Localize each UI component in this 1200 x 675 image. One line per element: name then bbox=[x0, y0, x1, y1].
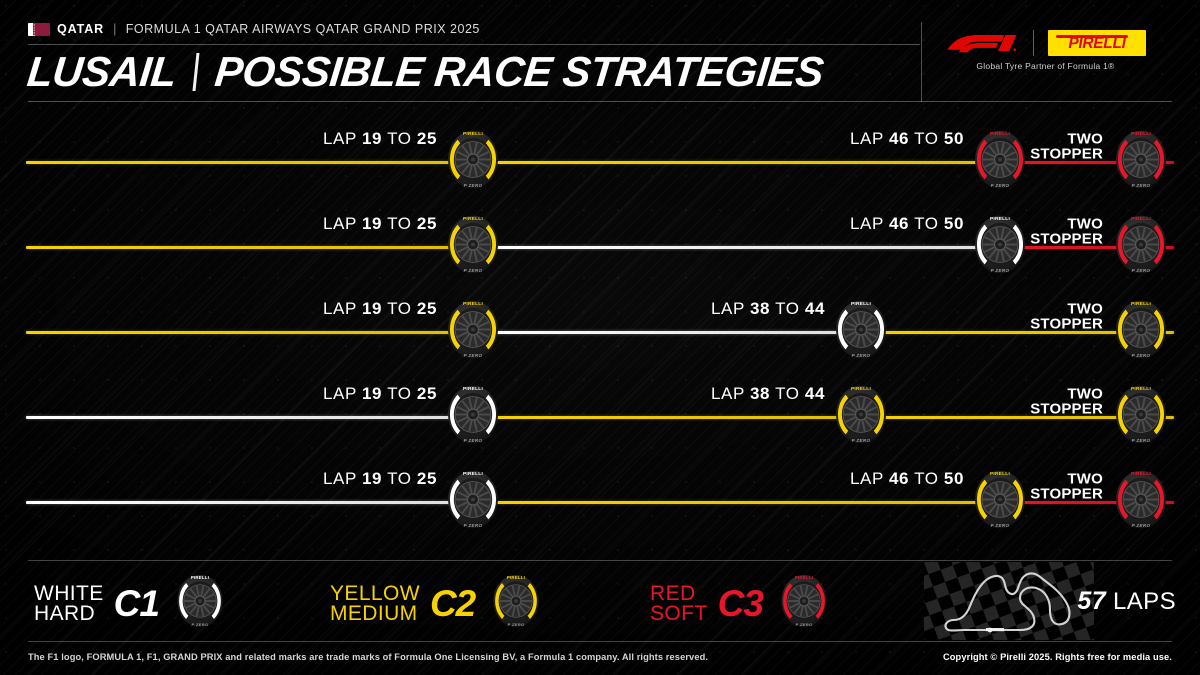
stint-segment-white bbox=[26, 416, 473, 419]
pirelli-logo-icon: PIRELLI bbox=[1048, 30, 1146, 56]
circuit-block: 57 LAPS bbox=[924, 562, 1176, 640]
tyre-icon-white: PIRELLI P ZERO bbox=[968, 213, 1032, 282]
svg-text:PIRELLI: PIRELLI bbox=[463, 131, 484, 137]
svg-text:P ZERO: P ZERO bbox=[991, 183, 1010, 188]
header-divider-bottom bbox=[28, 101, 1172, 102]
svg-text:P ZERO: P ZERO bbox=[1132, 268, 1151, 273]
header: QATAR | FORMULA 1 QATAR AIRWAYS QATAR GR… bbox=[0, 0, 1200, 104]
strategy-row: LAP 19 TO 25 PIRELLI P ZERO LAP 38 TO 44 bbox=[0, 359, 1200, 444]
svg-text:PIRELLI: PIRELLI bbox=[851, 386, 872, 392]
svg-text:P ZERO: P ZERO bbox=[464, 523, 483, 528]
stint-segment-white bbox=[473, 246, 1000, 249]
legend-color-name: RED bbox=[650, 584, 708, 604]
legend-text-group: REDSOFTC3 bbox=[650, 584, 763, 624]
legend-names: YELLOWMEDIUM bbox=[330, 584, 420, 624]
svg-text:PIRELLI: PIRELLI bbox=[463, 301, 484, 307]
page-title: LUSAIL POSSIBLE RACE STRATEGIES bbox=[25, 48, 826, 96]
footer-copyright-text: Copyright © Pirelli 2025. Rights free fo… bbox=[943, 652, 1172, 662]
svg-text:P ZERO: P ZERO bbox=[191, 622, 209, 627]
svg-text:PIRELLI: PIRELLI bbox=[463, 471, 484, 477]
legend-color-name: WHITE bbox=[34, 584, 104, 604]
svg-text:P ZERO: P ZERO bbox=[991, 268, 1010, 273]
legend-item-c3: REDSOFTC3 PIRELLI P ZERO bbox=[650, 572, 833, 635]
svg-text:PIRELLI: PIRELLI bbox=[1131, 471, 1152, 477]
pit-window-label: LAP 19 TO 25 bbox=[323, 129, 437, 149]
pit-window-label: LAP 46 TO 50 bbox=[850, 129, 964, 149]
tyre-icon-white: PIRELLI P ZERO bbox=[829, 298, 893, 367]
svg-text:PIRELLI: PIRELLI bbox=[990, 131, 1011, 137]
header-divider-vertical bbox=[921, 22, 922, 102]
stint-segment-white bbox=[26, 501, 473, 504]
laps-word: LAPS bbox=[1113, 588, 1176, 616]
svg-text:P ZERO: P ZERO bbox=[795, 622, 813, 627]
stint-segment-white bbox=[473, 331, 861, 334]
stopper-line-1: TWO bbox=[1030, 217, 1103, 232]
circuit-name: LUSAIL bbox=[25, 48, 179, 96]
pit-window-label: LAP 19 TO 25 bbox=[323, 214, 437, 234]
stint-segment-yellow bbox=[473, 501, 1000, 504]
pit-window-label: LAP 19 TO 25 bbox=[323, 469, 437, 489]
stopper-line-2: STOPPER bbox=[1030, 147, 1103, 162]
stopper-line-2: STOPPER bbox=[1030, 232, 1103, 247]
infographic-root: QATAR | FORMULA 1 QATAR AIRWAYS QATAR GR… bbox=[0, 0, 1200, 675]
stint-segment-yellow bbox=[26, 331, 473, 334]
legend-text-group: WHITEHARDC1 bbox=[34, 584, 159, 624]
legend-compound-code: C3 bbox=[718, 585, 763, 622]
svg-text:P ZERO: P ZERO bbox=[852, 438, 871, 443]
pit-window-label: LAP 46 TO 50 bbox=[850, 469, 964, 489]
svg-text:P ZERO: P ZERO bbox=[1132, 523, 1151, 528]
stopper-line-1: TWO bbox=[1030, 132, 1103, 147]
title-separator-bar bbox=[192, 53, 199, 91]
stint-segment-yellow bbox=[473, 416, 861, 419]
svg-text:PIRELLI: PIRELLI bbox=[1131, 216, 1152, 222]
event-name-label: FORMULA 1 QATAR AIRWAYS QATAR GRAND PRIX… bbox=[126, 22, 480, 36]
pit-window-label: LAP 46 TO 50 bbox=[850, 214, 964, 234]
legend-names: REDSOFT bbox=[650, 584, 708, 624]
stopper-line-1: TWO bbox=[1030, 387, 1103, 402]
svg-text:PIRELLI: PIRELLI bbox=[1131, 301, 1152, 307]
logo-divider bbox=[1033, 30, 1034, 56]
legend-text-group: YELLOWMEDIUMC2 bbox=[330, 584, 475, 624]
tyre-icon-white: PIRELLI P ZERO bbox=[441, 468, 505, 537]
strategy-row: LAP 19 TO 25 PIRELLI P ZERO LAP 46 TO 50 bbox=[0, 444, 1200, 529]
country-label: QATAR bbox=[57, 22, 104, 36]
header-separator: | bbox=[113, 22, 117, 36]
tyre-icon-yellow: PIRELLI P ZERO bbox=[968, 468, 1032, 537]
stint-segment-yellow bbox=[26, 246, 473, 249]
tyre-icon-yellow: PIRELLI P ZERO bbox=[829, 383, 893, 452]
strategy-row: LAP 19 TO 25 PIRELLI P ZERO LAP 46 TO 50 bbox=[0, 189, 1200, 274]
legend-compound-code: C1 bbox=[114, 585, 159, 622]
stopper-label: TWOSTOPPER bbox=[1030, 302, 1103, 333]
stopper-line-1: TWO bbox=[1030, 302, 1103, 317]
legend-divider-bottom bbox=[28, 641, 1172, 642]
lusail-circuit-map-icon bbox=[924, 562, 1094, 640]
svg-text:PIRELLI: PIRELLI bbox=[795, 575, 813, 580]
legend-tyre-icon-yellow: PIRELLI P ZERO bbox=[487, 572, 545, 635]
pirelli-wordmark: PIRELLI bbox=[1068, 36, 1125, 52]
laps-number: 57 bbox=[1077, 587, 1106, 616]
final-tyre-icon-red: PIRELLI P ZERO bbox=[1109, 128, 1173, 197]
legend-type-name: MEDIUM bbox=[330, 604, 420, 624]
race-laps: 57 LAPS bbox=[1077, 587, 1176, 616]
final-tyre-icon-red: PIRELLI P ZERO bbox=[1109, 213, 1173, 282]
legend-color-name: YELLOW bbox=[330, 584, 420, 604]
stopper-label: TWOSTOPPER bbox=[1030, 132, 1103, 163]
pit-window-label: LAP 38 TO 44 bbox=[711, 384, 825, 404]
svg-text:P ZERO: P ZERO bbox=[852, 353, 871, 358]
svg-text:PIRELLI: PIRELLI bbox=[1131, 386, 1152, 392]
stint-segment-yellow bbox=[26, 161, 473, 164]
svg-text:P ZERO: P ZERO bbox=[464, 183, 483, 188]
legend-type-name: HARD bbox=[34, 604, 104, 624]
svg-text:P ZERO: P ZERO bbox=[991, 523, 1010, 528]
stopper-label: TWOSTOPPER bbox=[1030, 387, 1103, 418]
svg-text:P ZERO: P ZERO bbox=[1132, 438, 1151, 443]
tyre-icon-red: PIRELLI P ZERO bbox=[968, 128, 1032, 197]
svg-text:PIRELLI: PIRELLI bbox=[463, 386, 484, 392]
svg-text:P ZERO: P ZERO bbox=[1132, 183, 1151, 188]
stopper-line-2: STOPPER bbox=[1030, 402, 1103, 417]
title-text: POSSIBLE RACE STRATEGIES bbox=[213, 48, 826, 96]
tyre-icon-yellow: PIRELLI P ZERO bbox=[441, 298, 505, 367]
svg-text:P ZERO: P ZERO bbox=[464, 438, 483, 443]
logo-group: PIRELLI Global Tyre Partner of Formula 1… bbox=[945, 30, 1146, 71]
stopper-line-2: STOPPER bbox=[1030, 487, 1103, 502]
svg-text:PIRELLI: PIRELLI bbox=[191, 575, 209, 580]
stopper-line-2: STOPPER bbox=[1030, 317, 1103, 332]
logo-row: PIRELLI bbox=[945, 30, 1146, 56]
svg-text:P ZERO: P ZERO bbox=[508, 622, 526, 627]
legend-compound-code: C2 bbox=[430, 585, 475, 622]
stint-segment-yellow bbox=[473, 161, 1000, 164]
final-tyre-icon-yellow: PIRELLI P ZERO bbox=[1109, 298, 1173, 367]
tyre-icon-white: PIRELLI P ZERO bbox=[441, 383, 505, 452]
legend-tyre-icon-white: PIRELLI P ZERO bbox=[171, 572, 229, 635]
svg-text:PIRELLI: PIRELLI bbox=[990, 471, 1011, 477]
stopper-line-1: TWO bbox=[1030, 472, 1103, 487]
svg-text:PIRELLI: PIRELLI bbox=[463, 216, 484, 222]
legend-type-name: SOFT bbox=[650, 604, 708, 624]
stopper-label: TWOSTOPPER bbox=[1030, 217, 1103, 248]
pit-window-label: LAP 19 TO 25 bbox=[323, 299, 437, 319]
pit-window-label: LAP 38 TO 44 bbox=[711, 299, 825, 319]
qatar-flag-icon bbox=[28, 23, 50, 36]
final-tyre-icon-yellow: PIRELLI P ZERO bbox=[1109, 383, 1173, 452]
legend-names: WHITEHARD bbox=[34, 584, 104, 624]
grand-prix-line: QATAR | FORMULA 1 QATAR AIRWAYS QATAR GR… bbox=[28, 22, 480, 36]
strategy-row: LAP 19 TO 25 PIRELLI P ZERO LAP 38 TO 44 bbox=[0, 274, 1200, 359]
footer-legal-text: The F1 logo, FORMULA 1, F1, GRAND PRIX a… bbox=[28, 652, 708, 662]
svg-text:P ZERO: P ZERO bbox=[464, 353, 483, 358]
svg-text:PIRELLI: PIRELLI bbox=[851, 301, 872, 307]
f1-logo-icon bbox=[945, 31, 1019, 55]
partner-tagline: Global Tyre Partner of Formula 1® bbox=[976, 61, 1114, 71]
svg-text:PIRELLI: PIRELLI bbox=[990, 216, 1011, 222]
svg-text:P ZERO: P ZERO bbox=[1132, 353, 1151, 358]
legend-item-c1: WHITEHARDC1 PIRELLI P ZERO bbox=[34, 572, 229, 635]
strategy-rows-container: LAP 19 TO 25 PIRELLI P ZERO LAP 46 TO 50 bbox=[0, 104, 1200, 552]
svg-text:PIRELLI: PIRELLI bbox=[507, 575, 525, 580]
header-divider-top bbox=[28, 44, 920, 45]
stopper-label: TWOSTOPPER bbox=[1030, 472, 1103, 503]
strategy-row: LAP 19 TO 25 PIRELLI P ZERO LAP 46 TO 50 bbox=[0, 104, 1200, 189]
tyre-icon-yellow: PIRELLI P ZERO bbox=[441, 213, 505, 282]
svg-text:PIRELLI: PIRELLI bbox=[1131, 131, 1152, 137]
legend-item-c2: YELLOWMEDIUMC2 PIRELLI P ZERO bbox=[330, 572, 545, 635]
legend-tyre-icon-red: PIRELLI P ZERO bbox=[775, 572, 833, 635]
svg-text:P ZERO: P ZERO bbox=[464, 268, 483, 273]
footer: The F1 logo, FORMULA 1, F1, GRAND PRIX a… bbox=[0, 648, 1200, 675]
pit-window-label: LAP 19 TO 25 bbox=[323, 384, 437, 404]
tyre-icon-yellow: PIRELLI P ZERO bbox=[441, 128, 505, 197]
final-tyre-icon-red: PIRELLI P ZERO bbox=[1109, 468, 1173, 537]
